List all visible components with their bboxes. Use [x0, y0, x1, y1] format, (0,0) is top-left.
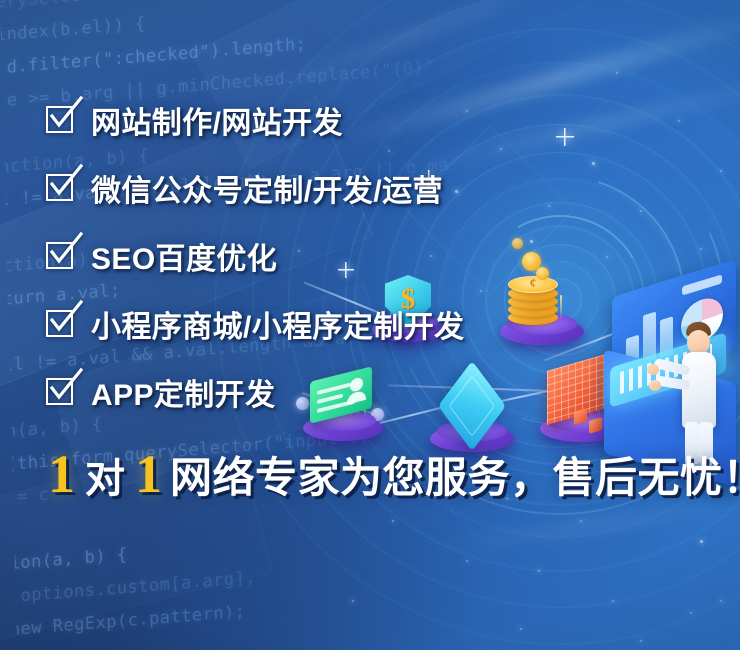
- sparkle-dot: [392, 520, 394, 522]
- light-ray: [421, 496, 740, 555]
- light-ray: [258, 0, 571, 95]
- sparkle-dot: [690, 612, 692, 614]
- promo-banner: .querySelectorAll("input[type=checkbox]"…: [0, 0, 740, 650]
- feature-row: 网站制作/网站开发: [46, 96, 686, 143]
- sparkle-dot: [616, 72, 618, 74]
- code-line: n d.test(a.val) || c.errorMessage: [0, 629, 313, 650]
- feature-checklist: 网站制作/网站开发微信公众号定制/开发/运营SEO百度优化小程序商城/小程序定制…: [46, 96, 686, 436]
- sparkle-dot: [694, 330, 696, 332]
- feature-row: 微信公众号定制/开发/运营: [46, 164, 686, 211]
- sparkle-dot: [580, 520, 582, 522]
- sparkle-dot: [700, 540, 703, 543]
- sparkle-dot: [720, 600, 722, 602]
- analyst-head: [687, 330, 710, 355]
- feature-label: 小程序商城/小程序定制开发: [91, 302, 465, 346]
- sparkle-dot: [520, 628, 522, 630]
- analyst-hair: [686, 322, 711, 336]
- feature-row: 小程序商城/小程序定制开发: [46, 300, 686, 347]
- feature-row: SEO百度优化: [46, 232, 686, 279]
- code-line: = d.index(b.el)) {: [0, 14, 146, 49]
- sparkle-dot: [538, 570, 540, 572]
- checkbox-checked-icon: [46, 174, 73, 201]
- code-line: unction(a, b) {: [0, 545, 128, 578]
- checkbox-checked-icon: [46, 242, 73, 269]
- feature-label: 微信公众号定制/开发/运营: [91, 166, 443, 210]
- headline-rest-text: 网络专家为您服务，售后无忧！: [162, 457, 740, 499]
- code-line: = new RegExp(c.pattern);: [0, 602, 246, 642]
- checkbox-checked-icon: [46, 106, 73, 133]
- feature-label: APP定制开发: [91, 370, 276, 414]
- feature-label: SEO百度优化: [91, 234, 277, 278]
- sparkle-dot: [720, 170, 722, 172]
- feature-label: 网站制作/网站开发: [91, 98, 343, 142]
- sparkle-dot: [352, 600, 354, 602]
- headline-number-first: 1: [48, 447, 75, 501]
- checkbox-checked-icon: [46, 310, 73, 337]
- feature-row: APP定制开发: [46, 368, 686, 415]
- sparkle-dot: [640, 640, 642, 642]
- code-line: e = d.filter(":checked").length;: [0, 34, 307, 81]
- sparkle-dot: [722, 430, 724, 432]
- code-line: .querySelectorAll("input[type=checkbox]"…: [0, 0, 403, 17]
- checkbox-checked-icon: [46, 378, 73, 405]
- sparkle-dot: [612, 600, 614, 602]
- headline-number-second: 1: [135, 447, 162, 501]
- screen-title-bar: [682, 274, 722, 295]
- code-line: = b.options.custom[a.arg],: [0, 568, 256, 610]
- analyst-coat: [682, 352, 716, 428]
- sparkle-dot: [466, 560, 468, 562]
- code-line: 1 = c: [0, 485, 50, 510]
- sparkle-dot: [700, 248, 702, 250]
- promo-headline: 1 对 1 网络专家为您服务，售后无忧！: [48, 447, 740, 501]
- pie-chart: [681, 293, 723, 348]
- headline-middle-word: 对: [75, 459, 135, 499]
